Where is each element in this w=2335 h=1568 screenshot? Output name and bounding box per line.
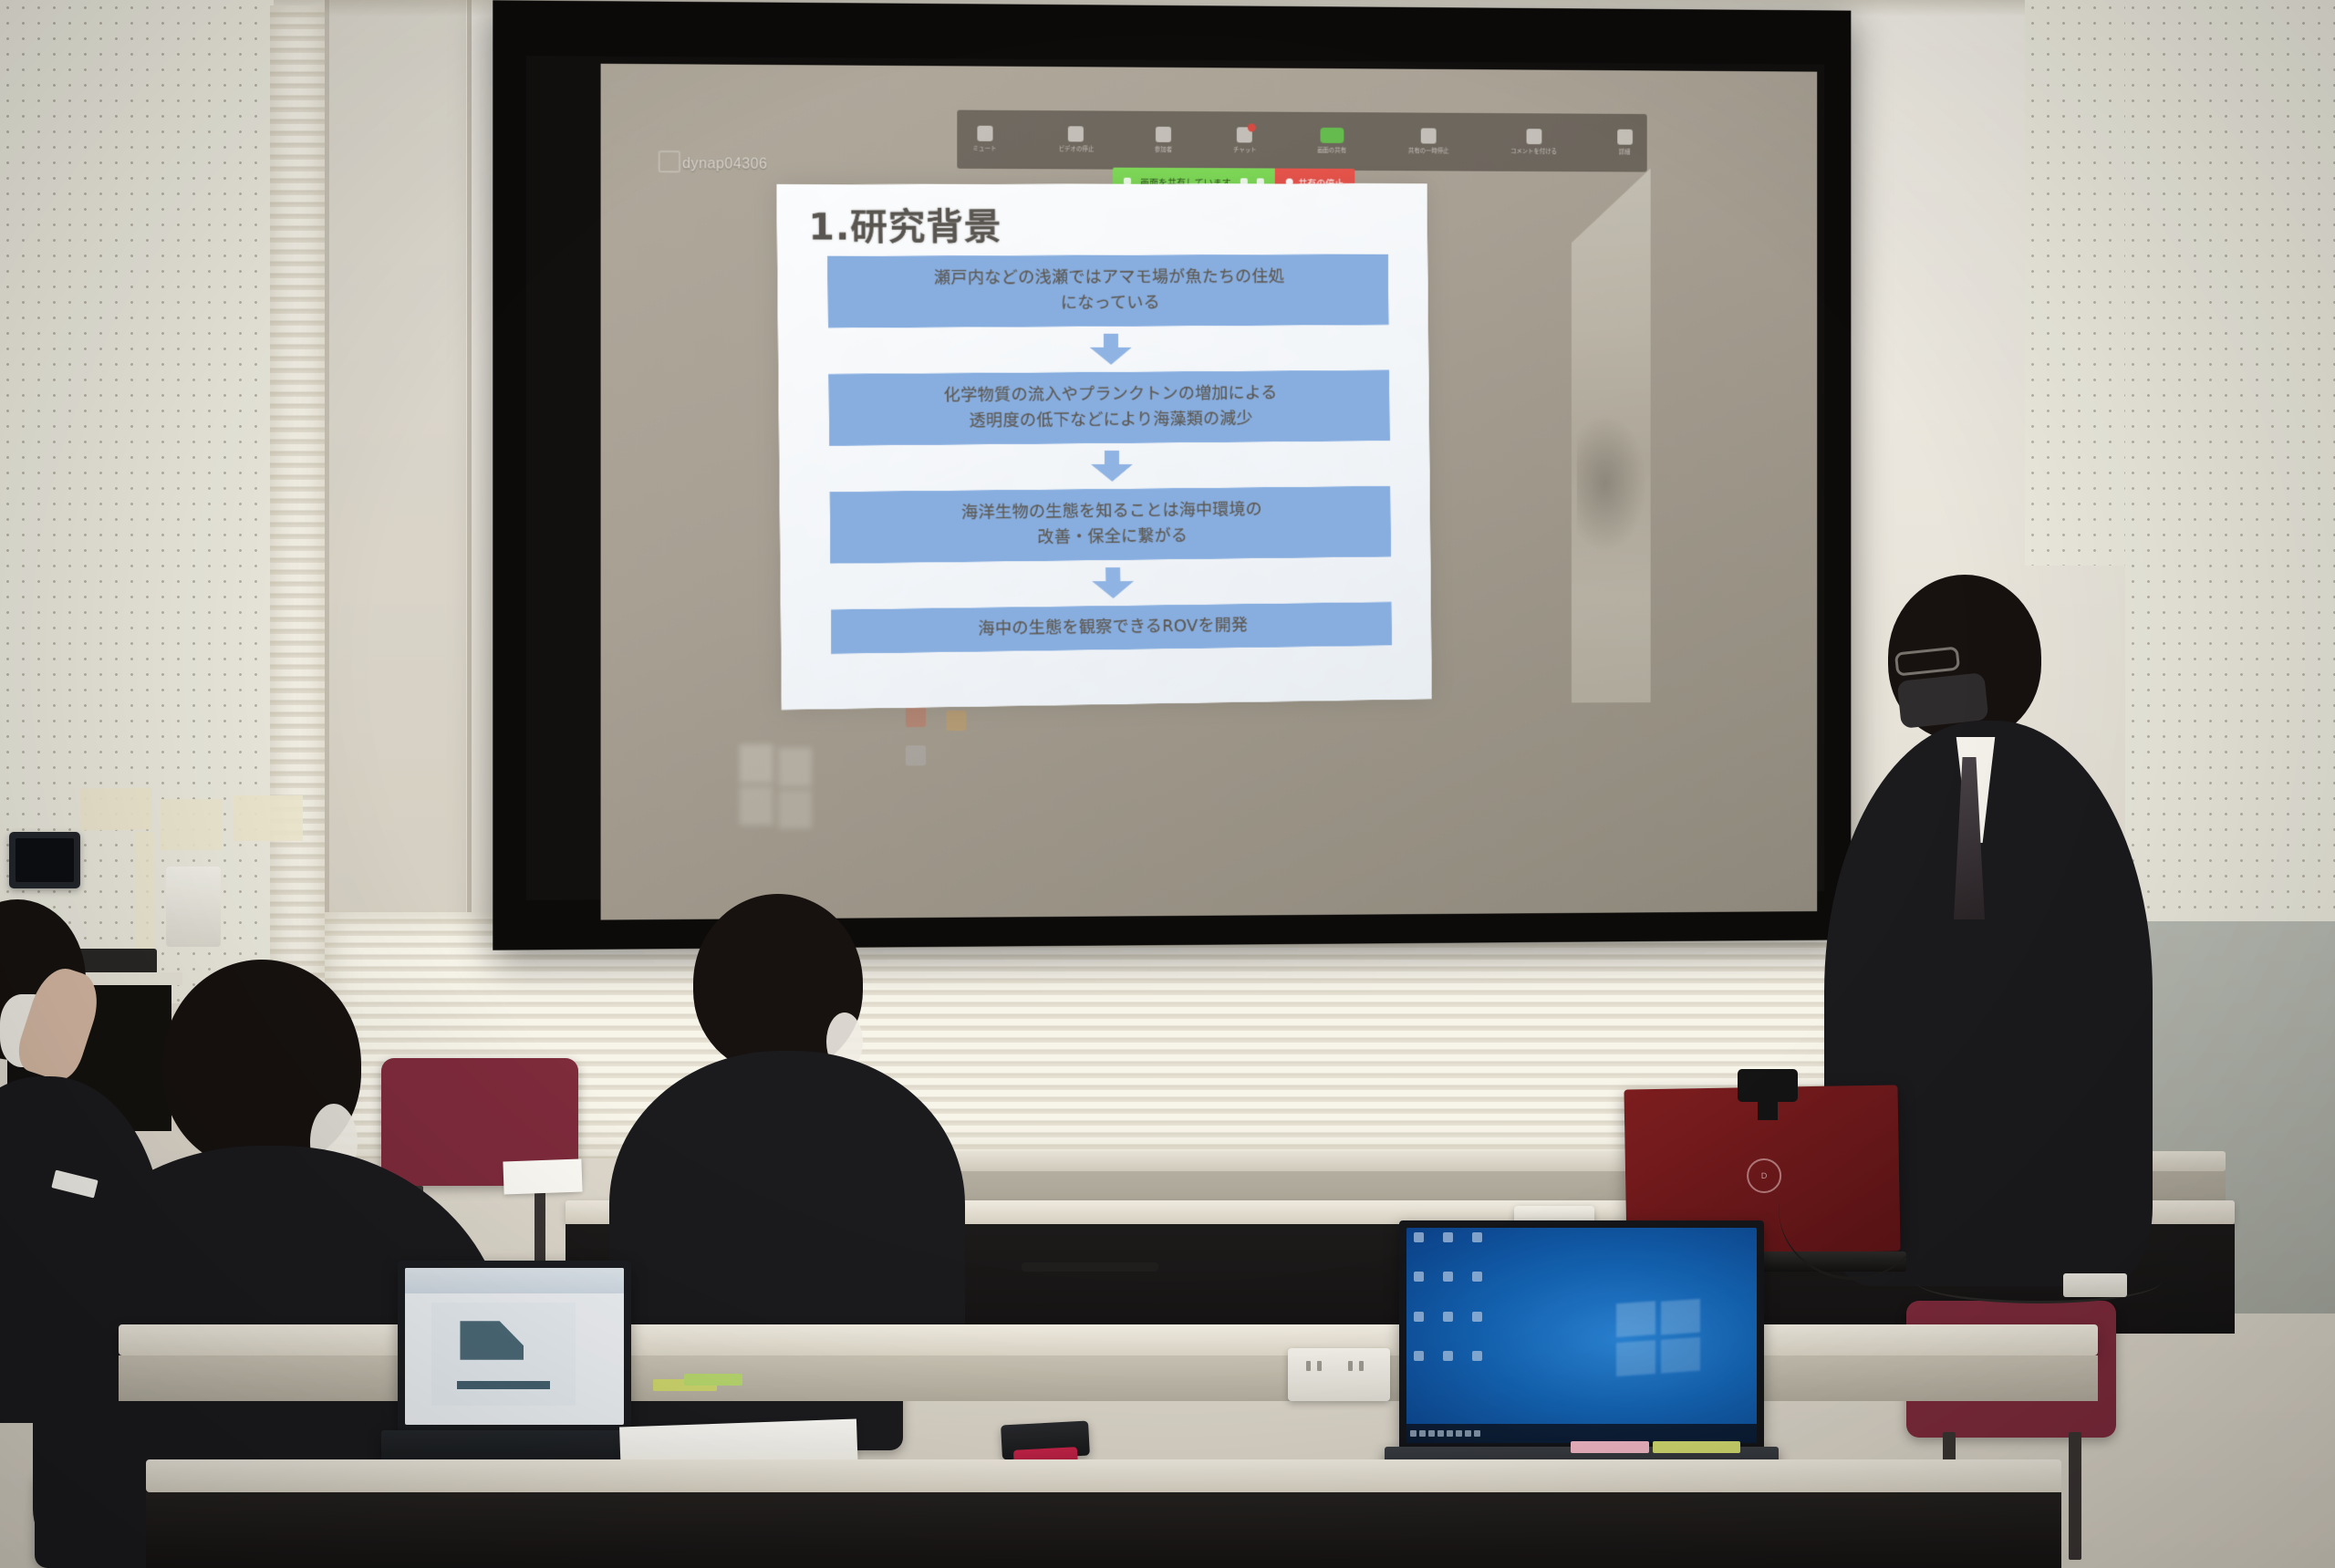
screen-bezel-top: [493, 0, 1851, 65]
wall-seam-2: [467, 0, 472, 1049]
flow-arrow-3: [1092, 567, 1134, 599]
windows-logo-watermark: [740, 744, 812, 829]
toolbar-participants-label: 参加者: [1155, 145, 1172, 153]
toolbar-pause[interactable]: 共有の一時停止: [1406, 128, 1451, 155]
more-icon: [1617, 130, 1633, 145]
flow-box-1: 瀬戸内などの浅瀬ではアマモ場が魚たちの住処 になっている: [827, 254, 1388, 328]
desktop-icon-label: dynap04306: [682, 156, 767, 173]
desktop-icons[interactable]: [1414, 1232, 1498, 1387]
surface-display: [405, 1268, 624, 1425]
screenshot-root: dynap04306 ミュート ビデオの停止 参加者: [0, 0, 2335, 1568]
flow-box-3-line-1: 海洋生物の生態を知ることは海中環境の: [961, 497, 1262, 526]
file-icon[interactable]: [659, 151, 680, 172]
app-ribbon[interactable]: [405, 1268, 624, 1293]
toolbar-mute[interactable]: ミュート: [971, 126, 997, 153]
wall-note-3: [233, 795, 303, 841]
projector-screen: dynap04306 ミュート ビデオの停止 参加者: [493, 0, 1851, 950]
flow-box-2-line-2: 透明度の低下などにより海藻類の減少: [969, 407, 1252, 435]
toolbar-annotate-label: コメントを付ける: [1510, 147, 1557, 155]
dell-laptop-windows-desktop[interactable]: [1399, 1220, 1764, 1450]
flow-arrow-2: [1091, 451, 1133, 482]
taskbar-app-4[interactable]: [1456, 1430, 1462, 1437]
toolbar-chat[interactable]: チャット: [1232, 127, 1258, 154]
wall-note-1: [80, 787, 152, 830]
flow-box-3-line-2: 改善・保全に繋がる: [1037, 524, 1188, 551]
slide-title: 1.研究背景: [808, 197, 1001, 251]
wall-shade-1: [329, 0, 466, 1049]
power-adapter: [2063, 1273, 2127, 1297]
wall-monitor: [9, 832, 80, 888]
participants-icon: [1156, 127, 1171, 142]
desktop-icon-2[interactable]: [1443, 1232, 1453, 1242]
windows-desktop-wallpaper: [1406, 1228, 1757, 1443]
desktop-icon-1[interactable]: [1414, 1232, 1424, 1242]
document-viewer: [405, 1268, 624, 1425]
desktop-icon-a[interactable]: [906, 707, 926, 727]
pegboard-wall-right: [2125, 0, 2335, 1076]
taskbar-start-icon[interactable]: [1410, 1430, 1417, 1437]
remote-on-desk[interactable]: [1022, 1262, 1158, 1272]
flow-box-3: 海洋生物の生態を知ることは海中環境の 改善・保全に繋がる: [830, 486, 1391, 564]
flow-box-1-line-1: 瀬戸内などの浅瀬ではアマモ場が魚たちの住処: [934, 265, 1285, 292]
desktop-icon-9[interactable]: [1472, 1312, 1482, 1322]
flow-diagram: 瀬戸内などの浅瀬ではアマモ場が魚たちの住処 になっている 化学物質の流入やプラン…: [827, 254, 1392, 654]
chat-icon: [1237, 127, 1252, 142]
windows-taskbar[interactable]: [1406, 1424, 1757, 1443]
wall-device-box: [166, 867, 221, 947]
taskbar-app-6[interactable]: [1474, 1430, 1480, 1437]
share-screen-icon: [1320, 128, 1344, 143]
desktop-icon-4[interactable]: [1414, 1272, 1424, 1282]
flow-box-2-line-1: 化学物質の流入やプランクトンの増加による: [943, 381, 1277, 410]
document-diagram-shape: [460, 1321, 524, 1375]
desktop-icon-5[interactable]: [1443, 1272, 1453, 1282]
desktop-icon-8[interactable]: [1443, 1312, 1453, 1322]
attendee-center-body: [609, 1051, 965, 1370]
desktop-icon-11[interactable]: [1443, 1351, 1453, 1361]
background-photo: [1572, 168, 1651, 702]
toolbar-share[interactable]: 画面の共有: [1316, 128, 1348, 155]
toolbar-video[interactable]: ビデオの停止: [1056, 126, 1095, 153]
desktop-icon-3[interactable]: [1472, 1232, 1482, 1242]
windows-logo-icon: [1616, 1298, 1700, 1377]
flow-box-4: 海中の生態を観察できるROVを開発: [831, 602, 1392, 654]
taskbar-app-3[interactable]: [1447, 1430, 1453, 1437]
toolbar-video-label: ビデオの停止: [1058, 145, 1094, 153]
label-tape-green-4: [684, 1374, 742, 1386]
desktop-icon-12[interactable]: [1472, 1351, 1482, 1361]
screen-bezel-left: [493, 0, 526, 950]
meeting-toolbar[interactable]: ミュート ビデオの停止 参加者 チャット 画面の共有: [957, 110, 1646, 172]
toolbar-annotate[interactable]: コメントを付ける: [1509, 129, 1559, 156]
toolbar-more-label: 詳細: [1619, 148, 1631, 156]
chair-right-leg-2: [2069, 1432, 2081, 1560]
toolbar-share-label: 画面の共有: [1317, 146, 1346, 154]
document-diagram-bar: [457, 1381, 549, 1389]
toolbar-chat-label: チャット: [1233, 146, 1257, 154]
window-blinds-left: [270, 5, 325, 1045]
annotate-icon: [1526, 129, 1541, 144]
taskbar-app-5[interactable]: [1465, 1430, 1471, 1437]
label-tape-green: [1653, 1441, 1740, 1453]
toolbar-mute-label: ミュート: [973, 144, 997, 152]
toolbar-pause-label: 共有の一時停止: [1408, 147, 1449, 155]
surface-tablet-document[interactable]: [398, 1261, 631, 1432]
usb-webcam: [1738, 1069, 1798, 1102]
taskbar-app-2[interactable]: [1437, 1430, 1444, 1437]
video-camera-icon: [1068, 126, 1084, 141]
desk-bottom-body: [146, 1492, 2061, 1568]
pause-icon: [1421, 128, 1437, 143]
presentation-slide: 1.研究背景 瀬戸内などの浅瀬ではアマモ場が魚たちの住処 になっている 化学物質…: [776, 183, 1431, 710]
desktop-icon-10[interactable]: [1414, 1351, 1424, 1361]
wall-note-2: [161, 799, 223, 850]
screen-bezel-right: [1824, 10, 1851, 940]
label-tape-pink: [1571, 1441, 1649, 1453]
flow-box-2: 化学物質の流入やプランクトンの増加による 透明度の低下などにより海藻類の減少: [828, 370, 1389, 446]
power-strip: [1288, 1348, 1390, 1401]
toolbar-participants[interactable]: 参加者: [1154, 127, 1173, 154]
flow-arrow-1: [1090, 334, 1132, 365]
desktop-icon-b[interactable]: [946, 711, 966, 731]
flow-box-4-line-1: 海中の生態を観察できるROVを開発: [978, 613, 1248, 642]
paper-sheet-back: [503, 1159, 582, 1195]
projected-desktop: dynap04306 ミュート ビデオの停止 参加者: [601, 64, 1818, 920]
desktop-icon-6[interactable]: [1472, 1272, 1482, 1282]
taskbar-app-1[interactable]: [1428, 1430, 1435, 1437]
toolbar-more[interactable]: 詳細: [1617, 130, 1633, 157]
document-page: [431, 1303, 576, 1407]
desktop-icon-7[interactable]: [1414, 1312, 1424, 1322]
dell-logo-icon: D: [1747, 1158, 1782, 1193]
flow-box-1-line-2: になっている: [1061, 290, 1160, 316]
desk-bottom: [146, 1459, 2061, 1492]
desktop-icon-c[interactable]: [906, 745, 926, 765]
taskbar-search-icon[interactable]: [1419, 1430, 1426, 1437]
laptop-display: [1406, 1228, 1757, 1443]
microphone-icon: [977, 126, 992, 141]
